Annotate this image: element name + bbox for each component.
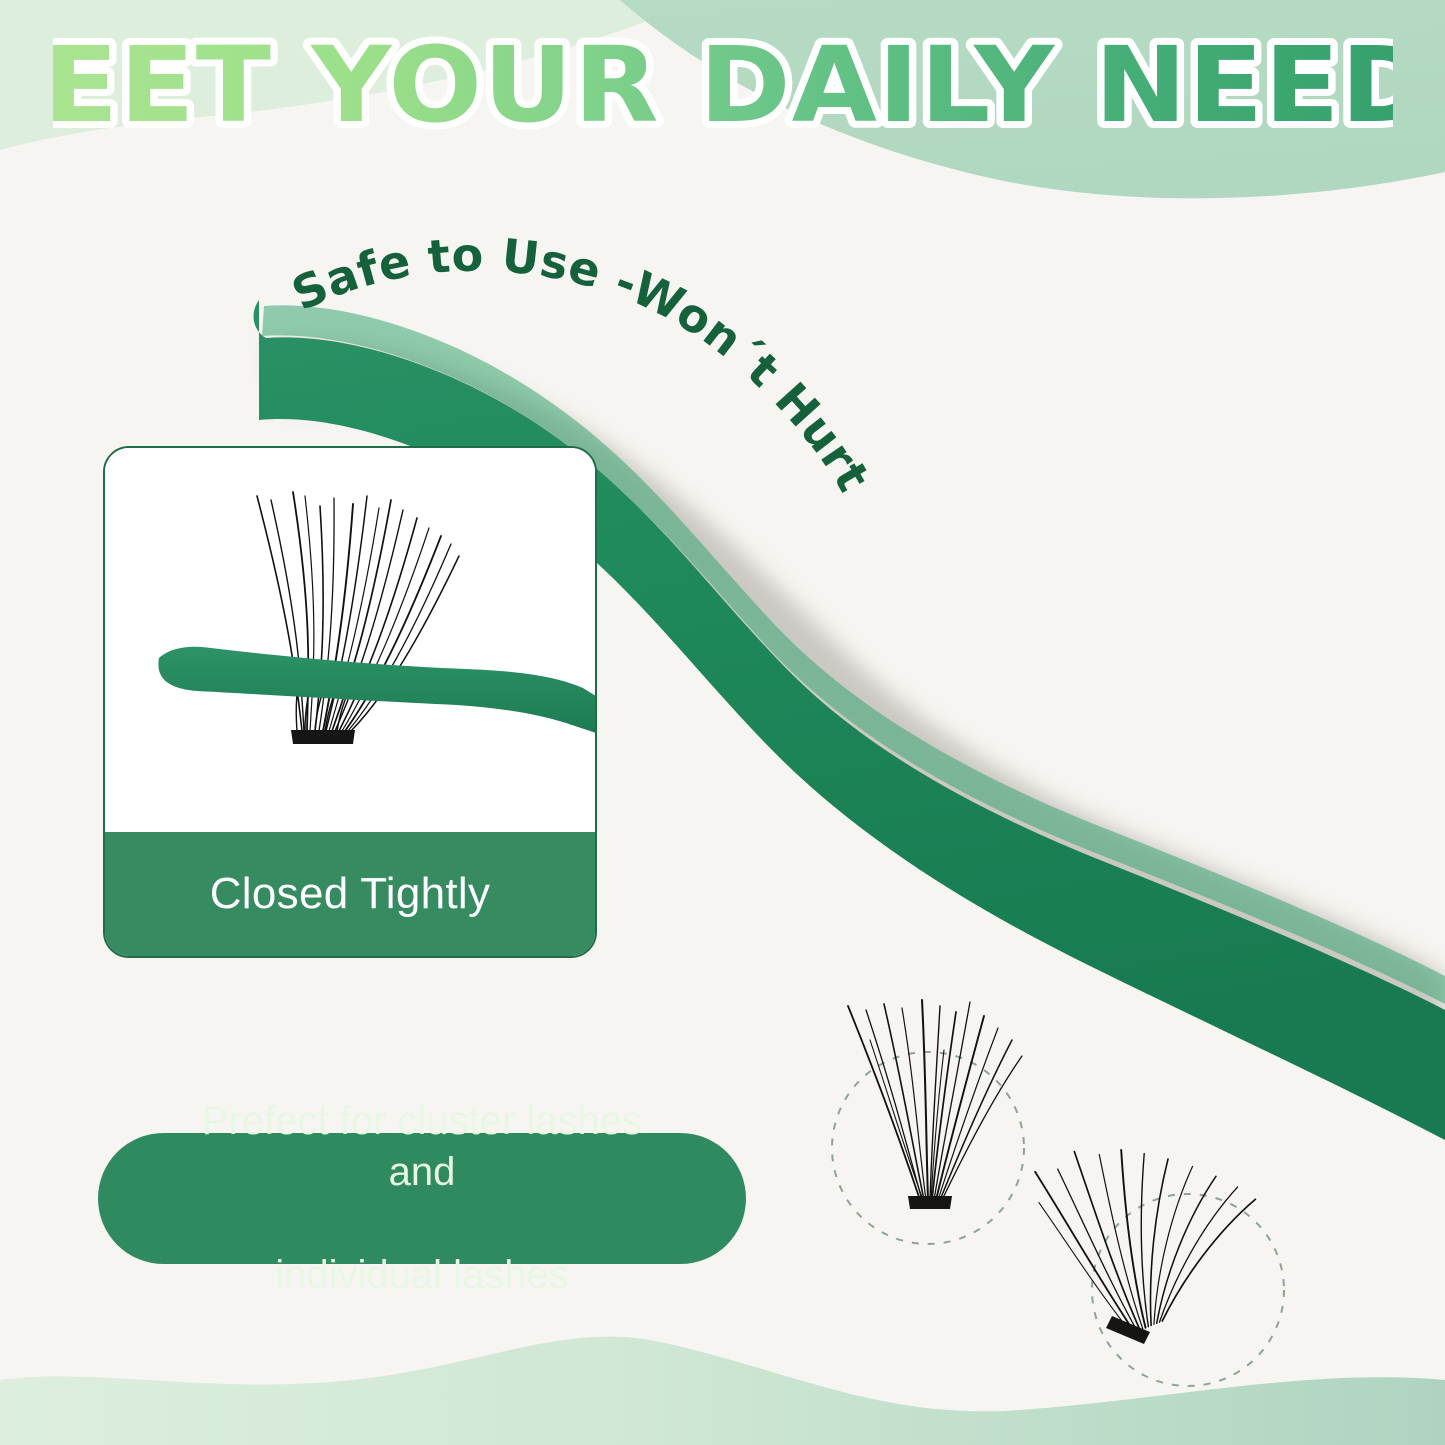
closed-tightly-card: Closed Tightly	[103, 446, 597, 958]
feature-pill-badge: Prefect for cluster lashes andindividual…	[98, 1133, 746, 1264]
card-photo-background	[105, 448, 595, 834]
card-photo	[105, 448, 595, 834]
pill-badge-line2: individual lashes	[132, 1250, 712, 1301]
lash-band	[291, 730, 355, 744]
product-feature-poster: MEET YOUR DAILY NEEDS MEET YOUR DAILY NE…	[0, 0, 1445, 1445]
pill-badge-line1: Prefect for cluster lashes and	[132, 1096, 712, 1198]
curved-callout-text: Safe to Use -Won´t Hurt Eyes	[0, 0, 889, 515]
card-caption-text: Closed Tightly	[210, 869, 491, 919]
pill-badge-text: Prefect for cluster lashes andindividual…	[98, 1096, 746, 1301]
card-caption-band: Closed Tightly	[105, 832, 595, 956]
